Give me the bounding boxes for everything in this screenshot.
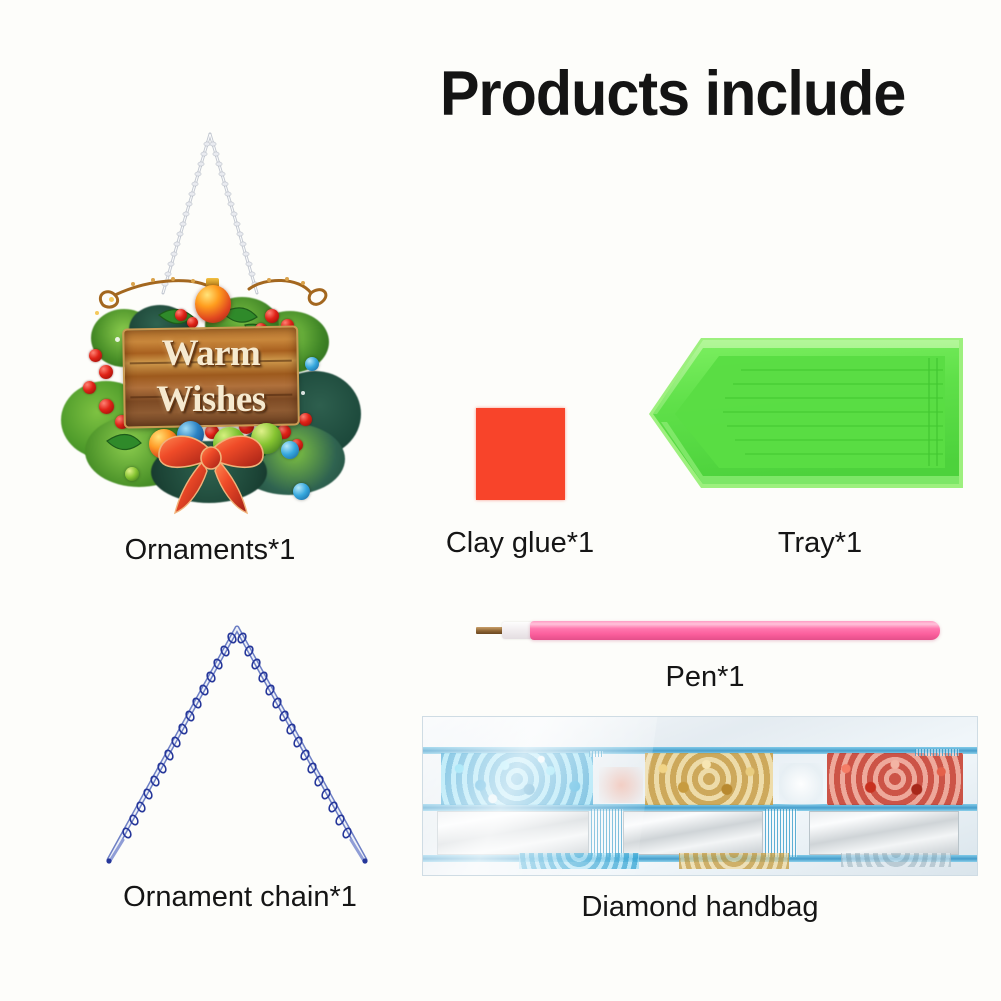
caption-ornament-chain: Ornament chain*1: [55, 880, 425, 914]
pen-barrel: [530, 621, 940, 640]
berry: [299, 413, 312, 426]
caption-tray: Tray*1: [700, 526, 940, 560]
sparkle: [115, 337, 120, 342]
gem-spill-bottom: [519, 853, 639, 869]
gem-spill-bottom: [679, 853, 789, 869]
product-contents-infographic: Products include: [0, 0, 1001, 1001]
foil-strip: [437, 811, 589, 855]
sign-text-line-2: Wishes: [123, 377, 299, 423]
green-tray-icon: [645, 318, 975, 503]
warm-wishes-sign-artwork: Warm Wishes: [55, 253, 365, 518]
zip-teeth: [765, 809, 797, 857]
berry: [99, 399, 114, 414]
zip-teeth: [589, 751, 603, 757]
gem-spill-right: [779, 763, 823, 805]
ornaments-illustration: Warm Wishes: [45, 128, 375, 523]
sign-text: Warm Wishes: [123, 331, 299, 423]
ribbon-bow-icon: [149, 421, 273, 515]
tray-illustration: [645, 318, 975, 503]
top-bauble: [195, 285, 231, 323]
caption-clay-glue: Clay glue*1: [400, 526, 640, 560]
page-title: Products include: [440, 57, 966, 131]
berry: [99, 365, 113, 379]
clay-glue-swatch: [476, 408, 565, 500]
foil-strip: [809, 811, 959, 855]
zip-seal-middle: [423, 804, 977, 811]
sign-text-line-1: Warm: [123, 331, 299, 377]
caption-diamond-handbag: Diamond handbag: [520, 890, 880, 924]
bauble-small-blue: [293, 483, 310, 500]
bauble-small-blue: [305, 357, 319, 371]
gem-pocket-gold: [645, 753, 773, 805]
foil-strip: [623, 811, 763, 855]
diamond-handbag-illustration: [422, 716, 978, 876]
gem-spill-middle: [599, 767, 643, 803]
sparkle: [301, 391, 305, 395]
bauble-small-green: [125, 467, 139, 481]
gem-pocket-blue: [441, 753, 593, 805]
berry: [89, 349, 102, 362]
zip-teeth: [915, 749, 959, 756]
plastic-pouch: [422, 716, 978, 876]
caption-ornaments: Ornaments*1: [45, 533, 375, 567]
bauble-small-blue: [281, 441, 299, 459]
gem-spill-bottom: [841, 853, 951, 867]
chain-icon: [85, 618, 390, 868]
gem-pocket-red: [827, 753, 963, 805]
caption-pen: Pen*1: [595, 660, 815, 694]
pen-illustration: [470, 614, 950, 650]
berry: [83, 381, 96, 394]
ornament-chain-illustration: [85, 618, 390, 868]
zip-teeth: [591, 809, 623, 857]
